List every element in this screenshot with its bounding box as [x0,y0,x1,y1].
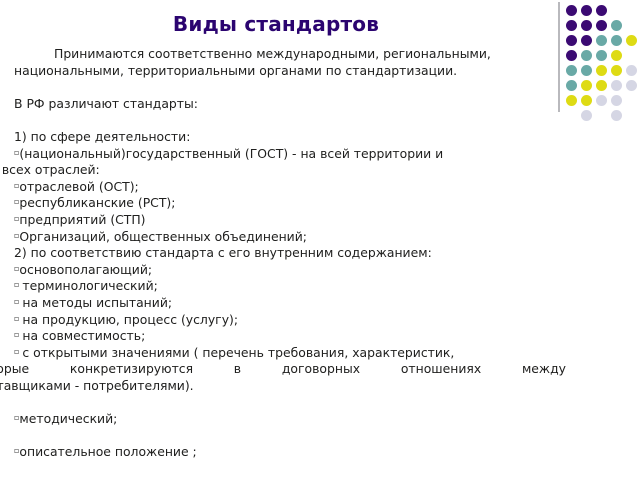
ornament-dot [566,95,577,106]
ornament-dot [581,5,592,16]
ornament-dot [581,110,592,121]
ornament-dot [581,35,592,46]
ornament-dot [611,50,622,61]
ornament-dot [611,80,622,91]
list-item-label: на методы испытаний; [22,295,172,310]
list-item: ▫на совместимость; [14,328,566,345]
list-item: ▫республиканские (РСТ); [14,195,566,212]
ornament-dot [626,80,637,91]
ornament-dot [611,65,622,76]
list-item: ▫на продукцию, процесс (услугу); [14,312,566,329]
ornament-dot [596,5,607,16]
slide-body: Принимаются соответственно международным… [14,46,566,461]
bullet-icon: ▫ [14,280,19,289]
ornament-dot [566,50,577,61]
dot-grid-icon [566,5,640,111]
ornament-dot [611,95,622,106]
spacer-2 [14,112,566,129]
ornament-dot [566,65,577,76]
list-item-label: республиканские (РСТ); [19,195,175,210]
ornament-dot [581,80,592,91]
list-item: ▫(национальный)государственный (ГОСТ) - … [14,146,566,179]
list-item-label: описательное положение ; [19,444,196,459]
list-item-label: терминологический; [22,278,157,293]
list-item-label: предприятий (СТП) [19,212,145,227]
list-item: ▫предприятий (СТП) [14,212,566,229]
list-item-label-continued: для всех отраслей: [0,162,566,179]
intro-paragraph-line-2: национальными, территориальными органами… [14,63,566,80]
spacer-4 [14,428,566,445]
ornament-dot [581,50,592,61]
list-item: ▫на методы испытаний; [14,295,566,312]
ornament-dot [611,35,622,46]
bullet-icon: ▫ [14,330,19,339]
ornament-dot [596,65,607,76]
list-item-label: методический; [19,411,117,426]
ornament-dot [581,20,592,31]
list-item-label-continued: которые конкретизируются в договорных от… [0,361,566,378]
ornament-dot [611,20,622,31]
list-item: ▫отраслевой (ОСТ); [14,179,566,196]
ornament-dot [566,35,577,46]
ornament-dot [596,35,607,46]
ornament-dot [581,65,592,76]
ornament-dot [626,35,637,46]
ornament-dot [596,80,607,91]
ornament-dot [596,20,607,31]
ornament-dot [596,50,607,61]
bullet-icon: ▫ [14,347,19,356]
ornament-dot [596,95,607,106]
bullet-icon: ▫ [14,297,19,306]
list-item-label-continued-2: поставщиками - потребителями). [0,378,566,395]
list-item-label: отраслевой (ОСТ); [19,179,138,194]
spacer-1 [14,79,566,96]
list-item: ▫терминологический; [14,278,566,295]
spacer-3 [14,394,566,411]
list-item-label: основополагающий; [19,262,152,277]
intro-paragraph-line-1: Принимаются соответственно международным… [14,46,566,63]
list-item: ▫методический; [14,411,566,428]
page-title: Виды стандартов [0,13,552,35]
list-item: ▫Организаций, общественных объединений; [14,229,566,246]
section-2-label: 2) по соответствию стандарта с его внутр… [14,245,566,262]
list-item-label: с открытыми значениями ( перечень требов… [22,345,454,360]
ornament-dot [626,65,637,76]
ornament-dot [566,20,577,31]
list-item: ▫описательное положение ; [14,444,566,461]
ornament-dot [566,5,577,16]
list-item: ▫с открытыми значениями ( перечень требо… [14,345,566,395]
ornament-dot [566,80,577,91]
ornament-dot [581,95,592,106]
slide-canvas: Виды стандартов Принимаются соответствен… [0,0,640,480]
ornament-dot [611,110,622,121]
list-item: ▫основополагающий; [14,262,566,279]
subheading-line: В РФ различают стандарты: [14,96,566,113]
list-item-label: Организаций, общественных объединений; [19,229,307,244]
section-1-label: 1) по сфере деятельности: [14,129,566,146]
list-item-label: на совместимость; [22,328,145,343]
bullet-icon: ▫ [14,314,19,323]
list-item-label: (национальный)государственный (ГОСТ) - н… [19,146,443,161]
list-item-label: на продукцию, процесс (услугу); [22,312,238,327]
